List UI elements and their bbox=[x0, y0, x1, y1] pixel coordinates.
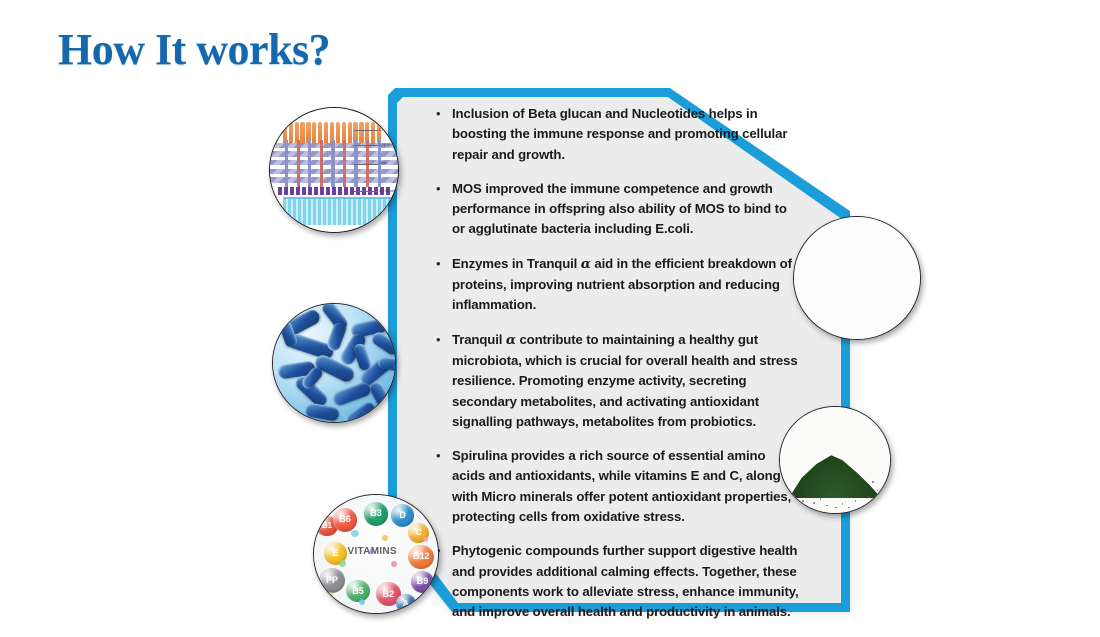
bullet-marker-icon: • bbox=[434, 254, 452, 316]
list-item: • Phytogenic compounds further support d… bbox=[434, 541, 800, 622]
list-item-text: Enzymes in Tranquil α aid in the efficie… bbox=[452, 254, 800, 316]
list-item: • Enzymes in Tranquil α aid in the effic… bbox=[434, 254, 800, 316]
bacteria-image bbox=[272, 303, 396, 423]
enzyme-protein-image bbox=[793, 216, 921, 340]
list-item: • Tranquil α contribute to maintaining a… bbox=[434, 330, 800, 432]
bullet-marker-icon: • bbox=[434, 104, 452, 165]
vitamins-image: B1B6B3DCB12EB9PPB5B2A VITAMINS bbox=[313, 494, 439, 614]
spirulina-image bbox=[779, 406, 891, 514]
list-item: • Spirulina provides a rich source of es… bbox=[434, 446, 800, 527]
list-item: • Inclusion of Beta glucan and Nucleotid… bbox=[434, 104, 800, 165]
vitamin-bubble: B9 bbox=[411, 571, 435, 593]
list-item-text: Tranquil α contribute to maintaining a h… bbox=[452, 330, 800, 432]
bullet-marker-icon: • bbox=[434, 179, 452, 240]
vitamin-bubble: PP bbox=[319, 568, 345, 593]
list-item-text: Spirulina provides a rich source of esse… bbox=[452, 446, 800, 527]
page-title: How It works? bbox=[58, 24, 330, 75]
vitamin-bubble: B5 bbox=[346, 580, 370, 602]
vitamin-bubble: B3 bbox=[364, 502, 389, 526]
bullet-list: • Inclusion of Beta glucan and Nucleotid… bbox=[434, 104, 800, 637]
vitamin-bubble: D bbox=[391, 504, 415, 526]
list-item: • MOS improved the immune competence and… bbox=[434, 179, 800, 240]
list-item-text: Phytogenic compounds further support dig… bbox=[452, 541, 800, 622]
list-item-text: Inclusion of Beta glucan and Nucleotides… bbox=[452, 104, 800, 165]
bullet-marker-icon: • bbox=[434, 330, 452, 432]
slide-canvas: How It works? • Inclusion of Beta glucan… bbox=[0, 0, 1100, 619]
vitamin-bubble: A bbox=[396, 594, 416, 613]
vitamins-caption: VITAMINS bbox=[347, 546, 396, 557]
list-item-text: MOS improved the immune competence and g… bbox=[452, 179, 800, 240]
vitamin-bubble: B6 bbox=[333, 508, 358, 532]
beta-glucan-cell-wall-image: 1,3-β1,6 β-glucanChitinCell membrane bbox=[269, 107, 399, 233]
